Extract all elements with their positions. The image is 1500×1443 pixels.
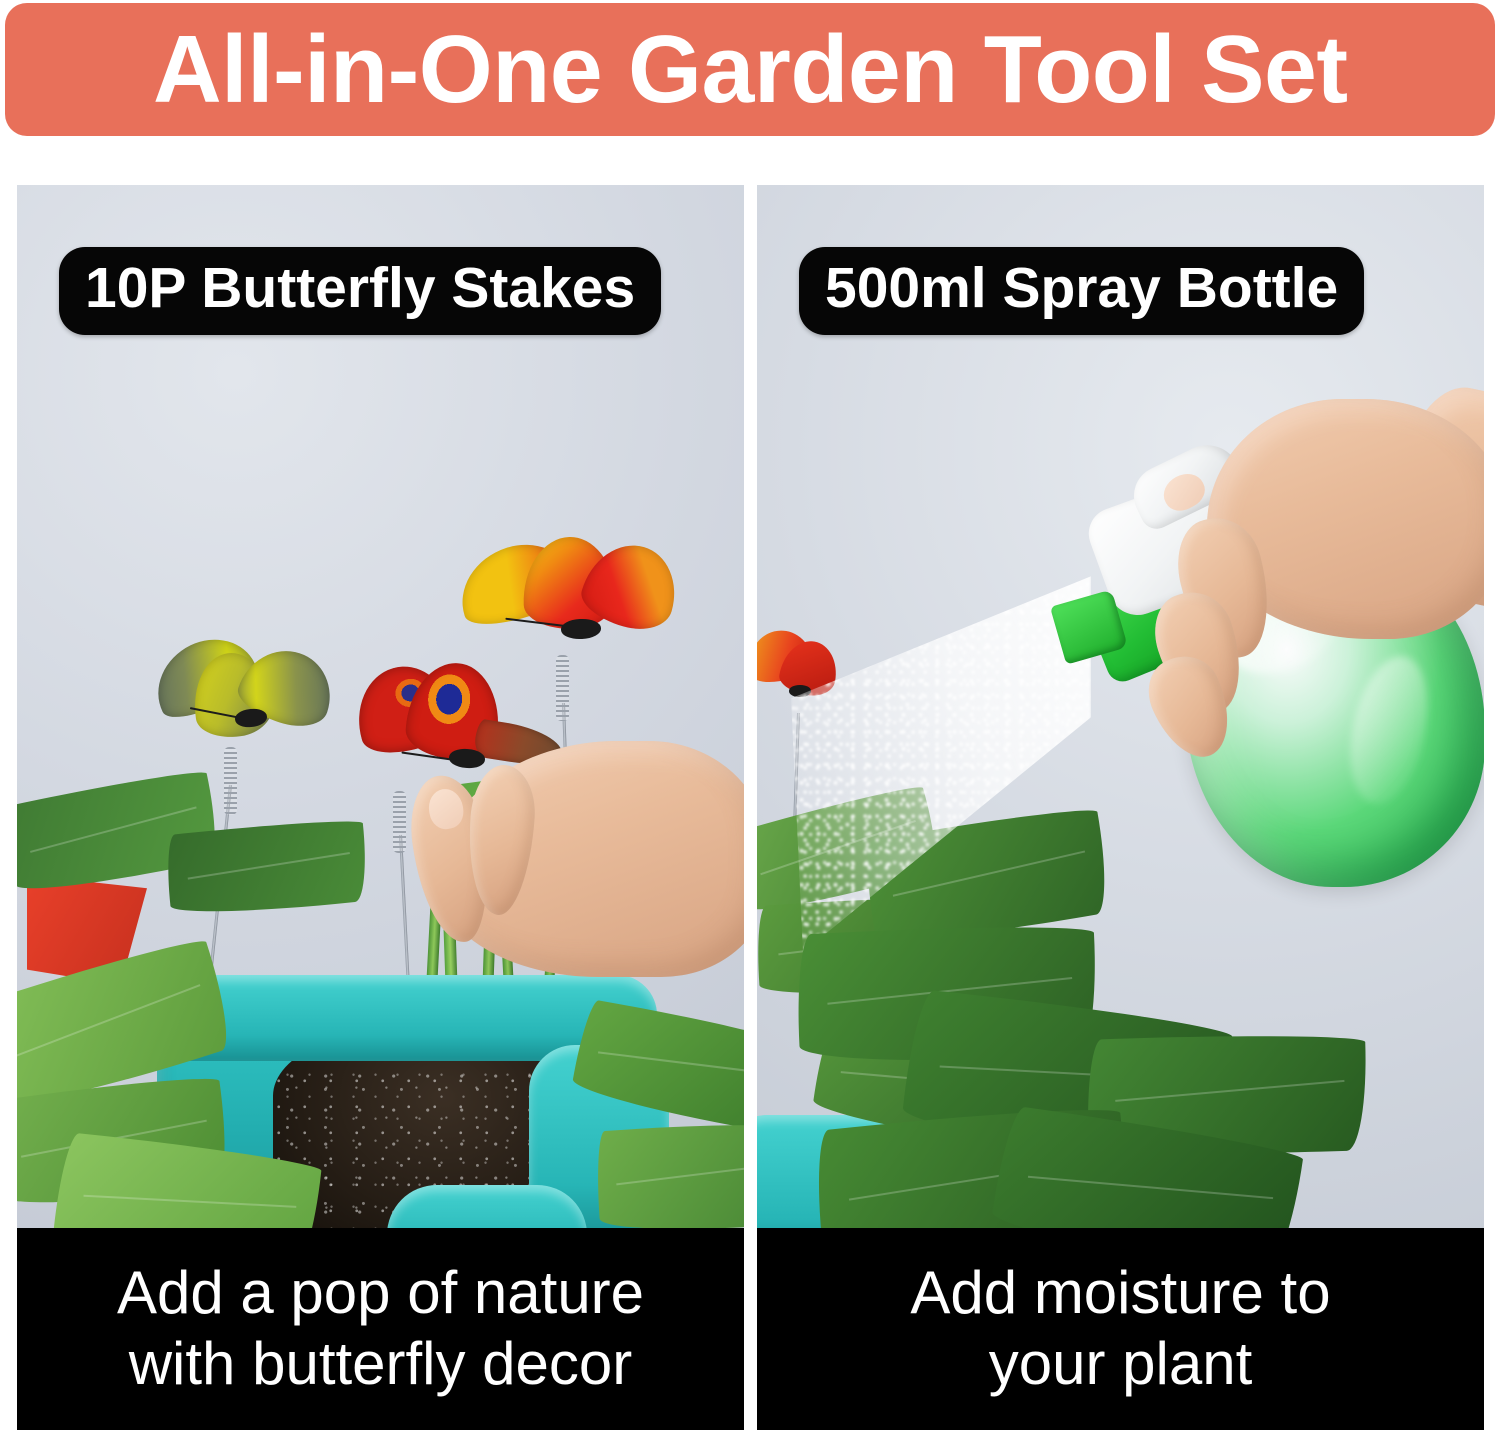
page-title: All-in-One Garden Tool Set: [153, 22, 1348, 118]
photo-butterfly-stakes: 10P Butterfly Stakes: [17, 185, 744, 1228]
caption-butterfly-stakes: Add a pop of nature with butterfly decor: [17, 1228, 744, 1430]
caption-spray-bottle: Add moisture to your plant: [757, 1228, 1484, 1430]
badge-label: 500ml Spray Bottle: [825, 259, 1338, 319]
caption-line-1: Add a pop of nature: [117, 1258, 644, 1329]
badge-spray-bottle: 500ml Spray Bottle: [799, 247, 1364, 335]
planter-pot-rim-front: [387, 1185, 587, 1228]
leaf: [594, 1119, 744, 1228]
header-banner: All-in-One Garden Tool Set: [5, 3, 1495, 136]
badge-label: 10P Butterfly Stakes: [85, 259, 635, 319]
butterfly-yellow-grey: [147, 633, 337, 773]
caption-line-2: with butterfly decor: [129, 1329, 633, 1400]
caption-line-1: Add moisture to: [910, 1258, 1330, 1329]
panel-spray-bottle: 500ml Spray Bottle Add moisture to your …: [757, 150, 1484, 1433]
badge-butterfly-stakes: 10P Butterfly Stakes: [59, 247, 661, 335]
butterfly-orange-red: [457, 533, 677, 683]
photo-spray-bottle: 500ml Spray Bottle: [757, 185, 1484, 1228]
caption-line-2: your plant: [989, 1329, 1253, 1400]
panel-butterfly-stakes: 10P Butterfly Stakes Add a pop of nature…: [17, 150, 744, 1433]
panel-grid: 10P Butterfly Stakes Add a pop of nature…: [0, 150, 1500, 1443]
